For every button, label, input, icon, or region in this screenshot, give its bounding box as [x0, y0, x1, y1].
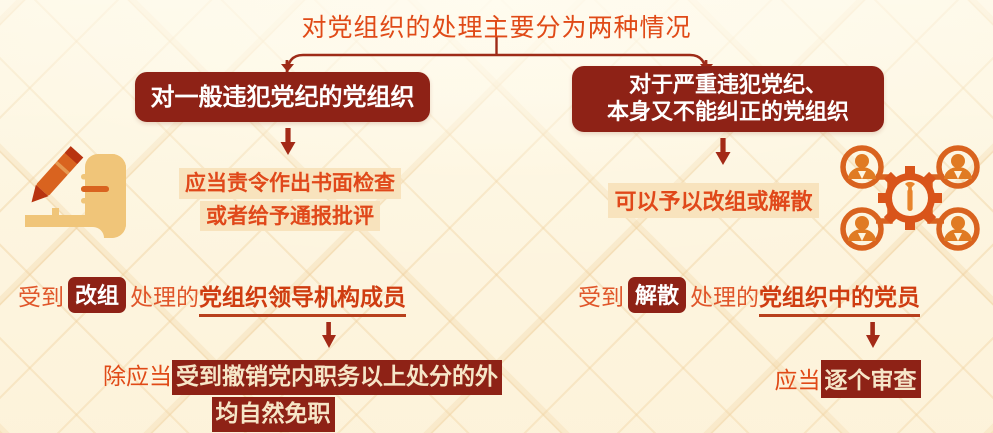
category-box-right-line1: 对于严重违犯党纪、 — [629, 72, 827, 98]
consequence-left-badge: 改组 — [68, 277, 126, 313]
category-box-severe-violation[interactable]: 对于严重违犯党纪、 本身又不能纠正的党组织 — [572, 66, 884, 132]
infographic-canvas: 对党组织的处理主要分为两种情况 对一般违犯党纪的党组织 对于严重违犯党纪、 本身… — [0, 0, 993, 433]
result-left-highlight1: 受到撤销党内职务以上处分的外 — [172, 360, 502, 395]
arrow-down-left-result — [320, 322, 338, 352]
people-gear-reorganize-icon — [836, 141, 984, 251]
consequence-left: 受到改组处理的党组织领导机构成员 — [18, 277, 406, 313]
category-box-right-line2: 本身又不能纠正的党组织 — [607, 99, 849, 125]
result-right-highlight1: 逐个审查 — [821, 360, 921, 398]
measure-left: 应当责令作出书面检查 或者给予通报批评 — [140, 168, 440, 231]
result-right: 应当逐个审查 — [740, 360, 955, 398]
result-left-highlight2: 均自然免职 — [212, 397, 335, 432]
consequence-left-subject: 党组织领导机构成员 — [199, 284, 406, 317]
consequence-right-badge: 解散 — [628, 277, 686, 313]
category-box-right-label: 对于严重违犯党纪、 本身又不能纠正的党组织 — [607, 72, 849, 126]
arrow-down-right-result — [864, 322, 882, 352]
arrow-down-right-measure — [713, 138, 733, 168]
measure-left-line1: 应当责令作出书面检查 — [179, 168, 401, 199]
measure-right: 可以予以改组或解散 — [586, 183, 841, 218]
consequence-right: 受到解散处理的党组织中的党员 — [578, 277, 920, 313]
consequence-right-prefix: 受到 — [578, 285, 624, 311]
category-box-left-label: 对一般违犯党纪的党组织 — [151, 82, 415, 111]
arrow-down-left-measure — [278, 128, 298, 158]
consequence-left-middle: 处理的 — [130, 285, 199, 311]
category-box-general-violation[interactable]: 对一般违犯党纪的党组织 — [135, 72, 430, 122]
result-left-line1: 除应当受到撤销党内职务以上处分的外 — [103, 360, 443, 395]
result-right-prefix: 应当 — [775, 368, 821, 394]
result-left-prefix: 除应当 — [103, 364, 172, 390]
result-left: 除应当受到撤销党内职务以上处分的外 均自然免职 — [103, 360, 443, 432]
document-pencil-icon — [14, 142, 142, 246]
measure-right-line1: 可以予以改组或解散 — [608, 183, 818, 218]
consequence-right-subject: 党组织中的党员 — [759, 284, 920, 317]
consequence-left-prefix: 受到 — [18, 285, 64, 311]
result-left-line2: 均自然免职 — [103, 397, 443, 432]
consequence-right-middle: 处理的 — [690, 285, 759, 311]
measure-left-line2: 或者给予通报批评 — [200, 201, 380, 232]
page-title: 对党组织的处理主要分为两种情况 — [0, 8, 993, 44]
